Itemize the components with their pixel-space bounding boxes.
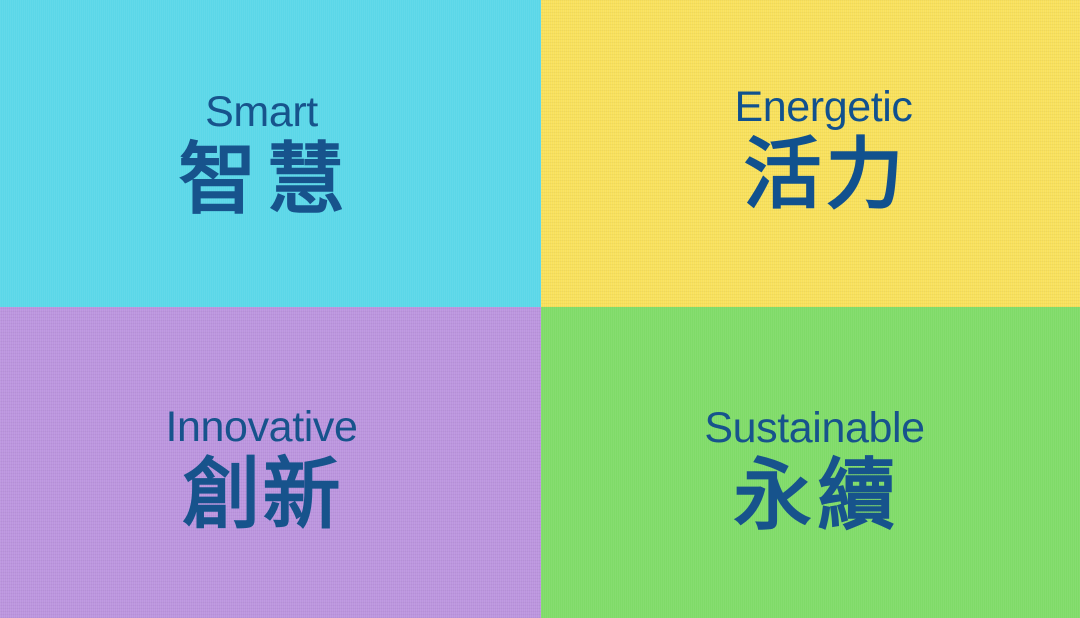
quadrant-innovative: Innovative 創新	[0, 307, 541, 618]
quadrant-smart-label-en: Smart	[205, 91, 318, 134]
quadrant-smart: Smart 智慧	[0, 0, 541, 307]
quadrant-smart-label-zh: 智慧	[168, 140, 354, 218]
quadrant-innovative-label-en: Innovative	[165, 406, 357, 449]
quadrant-energetic-label-zh: 活力	[739, 135, 907, 213]
quadrant-energetic-label-en: Energetic	[734, 86, 912, 129]
quadrant-sustainable-label-zh: 永續	[727, 456, 901, 534]
brand-values-grid: Smart 智慧 Energetic 活力 Innovative 創新 Sust…	[0, 0, 1080, 618]
quadrant-sustainable-text-stack: Sustainable 永續	[704, 407, 924, 534]
quadrant-smart-text-stack: Smart 智慧	[168, 91, 354, 218]
quadrant-sustainable: Sustainable 永續	[541, 307, 1080, 618]
quadrant-innovative-text-stack: Innovative 創新	[165, 406, 357, 533]
quadrant-energetic: Energetic 活力	[541, 0, 1080, 307]
quadrant-energetic-text-stack: Energetic 活力	[734, 86, 912, 213]
quadrant-innovative-label-zh: 創新	[180, 455, 342, 533]
quadrant-sustainable-label-en: Sustainable	[704, 407, 924, 450]
